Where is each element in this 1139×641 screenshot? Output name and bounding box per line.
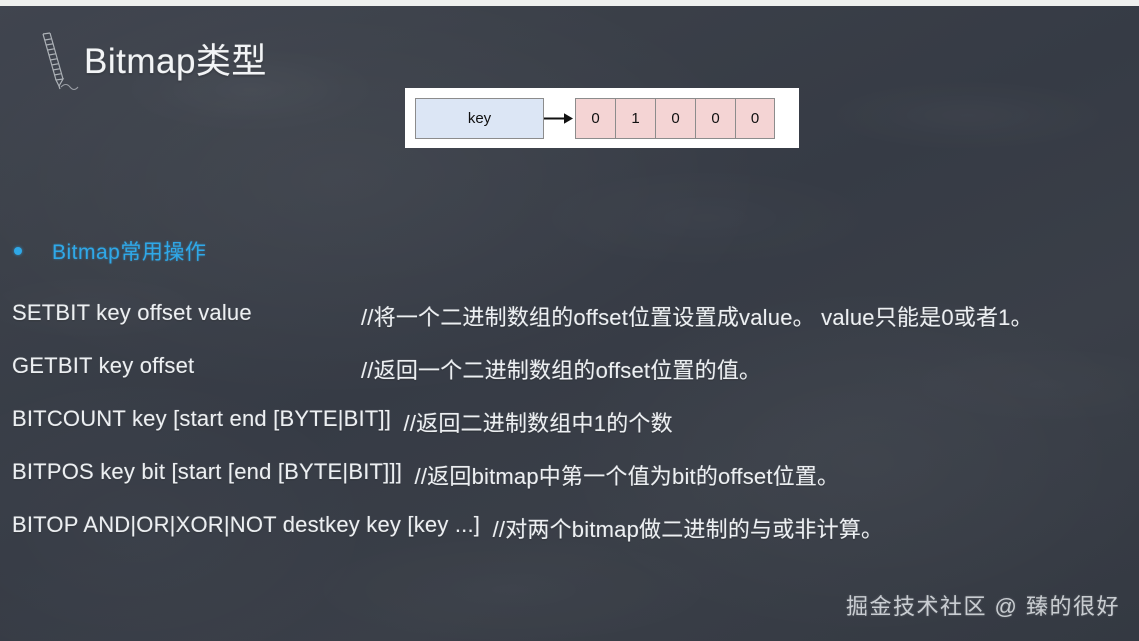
bullet-heading: Bitmap常用操作 (14, 236, 206, 266)
bit-cell: 0 (735, 98, 775, 139)
bit-cell: 0 (695, 98, 735, 139)
bitmap-cells: 0 1 0 0 0 (575, 98, 775, 139)
page-title: Bitmap类型 (84, 44, 267, 79)
watermark: 掘金技术社区 @ 臻的很好 (846, 589, 1120, 621)
bit-value: 0 (711, 110, 719, 127)
command-syntax: SETBIT key offset value (12, 300, 252, 326)
command-row: BITOP AND|OR|XOR|NOT destkey key [key ..… (12, 512, 1132, 565)
command-row: BITCOUNT key [start end [BYTE|BIT]] //返回… (12, 406, 1132, 459)
bit-value: 1 (631, 110, 639, 127)
chalk-pencil-icon (34, 30, 80, 92)
command-syntax: GETBIT key offset (12, 353, 194, 379)
bit-value: 0 (671, 110, 679, 127)
command-comment: //返回bitmap中第一个值为bit的offset位置。 (415, 459, 840, 491)
command-comment: //返回二进制数组中1的个数 (404, 406, 673, 438)
bit-cell: 1 (615, 98, 655, 139)
bullet-heading-label: Bitmap常用操作 (52, 236, 206, 266)
bit-value: 0 (591, 110, 599, 127)
slide-canvas: Bitmap类型 key 0 1 0 0 0 Bitmap常用操作 SETBIT… (0, 0, 1139, 641)
command-row: BITPOS key bit [start [end [BYTE|BIT]]] … (12, 459, 1132, 512)
command-syntax: BITOP AND|OR|XOR|NOT destkey key [key ..… (12, 512, 480, 538)
bit-cell: 0 (575, 98, 615, 139)
key-box-label: key (468, 110, 491, 127)
bullet-dot-icon (14, 247, 22, 255)
arrow-right-icon (544, 110, 574, 127)
key-box: key (415, 98, 544, 139)
command-list: SETBIT key offset value //将一个二进制数组的offse… (12, 300, 1132, 565)
command-comment: //对两个bitmap做二进制的与或非计算。 (493, 512, 884, 544)
command-comment: //返回一个二进制数组的offset位置的值。 (361, 353, 761, 385)
bit-value: 0 (751, 110, 759, 127)
command-comment: //将一个二进制数组的offset位置设置成value。 value只能是0或者… (361, 300, 1033, 332)
title-row: Bitmap类型 (34, 30, 267, 92)
bitmap-diagram: key 0 1 0 0 0 (405, 88, 799, 148)
command-row: SETBIT key offset value //将一个二进制数组的offse… (12, 300, 1132, 353)
command-syntax: BITPOS key bit [start [end [BYTE|BIT]]] (12, 459, 402, 485)
command-row: GETBIT key offset //返回一个二进制数组的offset位置的值… (12, 353, 1132, 406)
bit-cell: 0 (655, 98, 695, 139)
command-syntax: BITCOUNT key [start end [BYTE|BIT]] (12, 406, 391, 432)
top-edge-strip (0, 0, 1139, 6)
